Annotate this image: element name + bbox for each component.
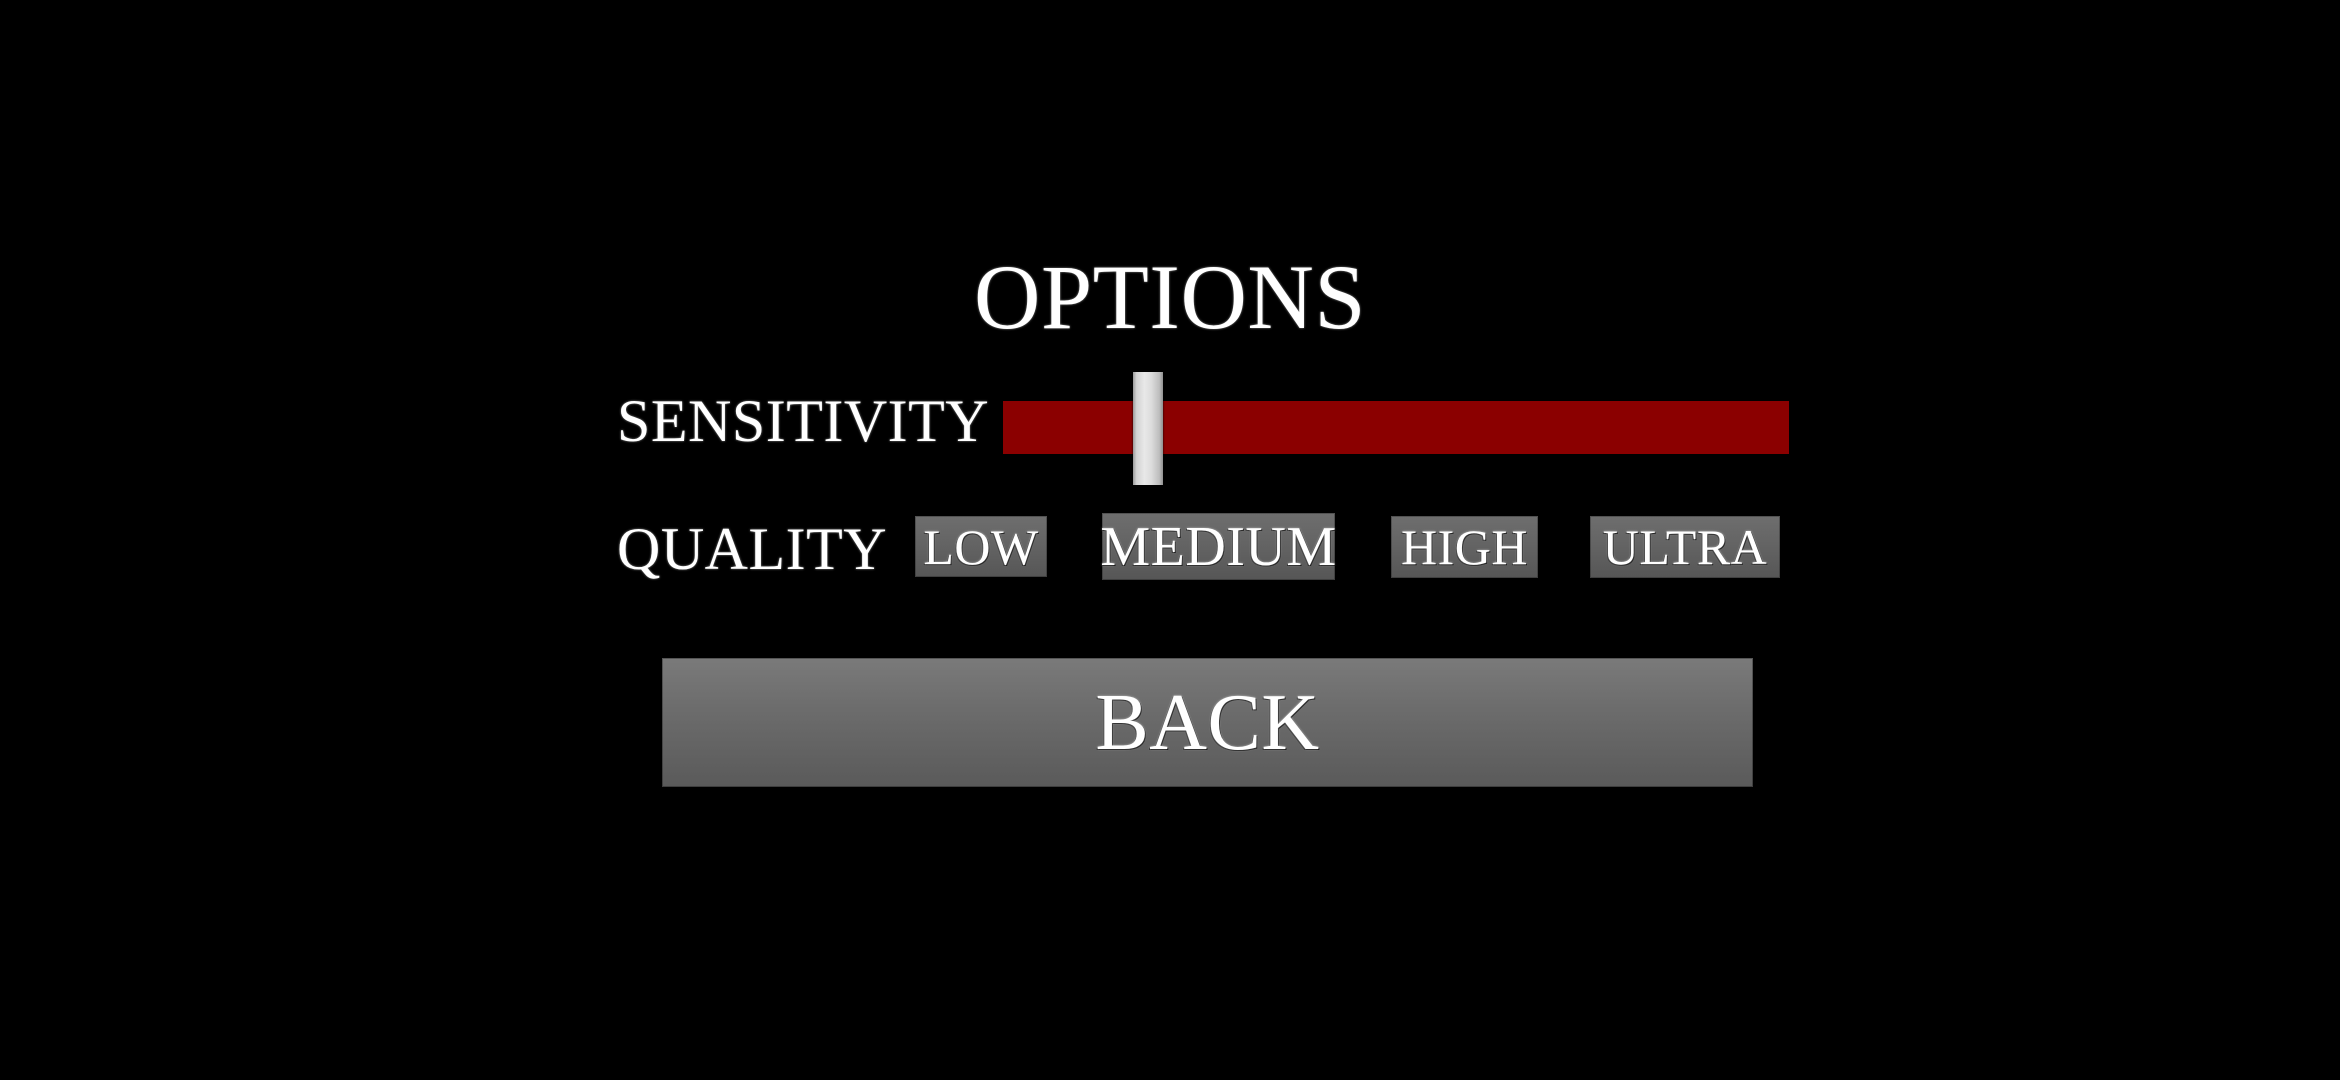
quality-option-high[interactable]: HIGH [1391, 516, 1538, 578]
quality-option-ultra[interactable]: ULTRA [1590, 516, 1780, 578]
page-title: OPTIONS [0, 247, 2340, 347]
quality-option-label: MEDIUM [1100, 519, 1336, 575]
back-button[interactable]: BACK [662, 658, 1753, 787]
options-menu-screen: OPTIONS SENSITIVITY QUALITY LOWMEDIUMHIG… [0, 0, 2340, 1080]
sensitivity-slider-track[interactable] [1003, 401, 1789, 454]
quality-option-label: HIGH [1401, 522, 1528, 572]
quality-label: QUALITY [617, 518, 887, 580]
sensitivity-label: SENSITIVITY [617, 390, 989, 452]
quality-option-medium[interactable]: MEDIUM [1102, 513, 1335, 580]
back-button-label: BACK [1095, 682, 1319, 764]
sensitivity-setting-row: SENSITIVITY [617, 362, 1797, 488]
sensitivity-slider[interactable] [1003, 362, 1789, 488]
quality-option-low[interactable]: LOW [915, 516, 1047, 577]
quality-setting-row: QUALITY LOWMEDIUMHIGHULTRA [617, 506, 1797, 590]
quality-option-label: LOW [923, 522, 1038, 572]
quality-option-label: ULTRA [1603, 522, 1768, 572]
sensitivity-slider-handle[interactable] [1133, 372, 1163, 485]
